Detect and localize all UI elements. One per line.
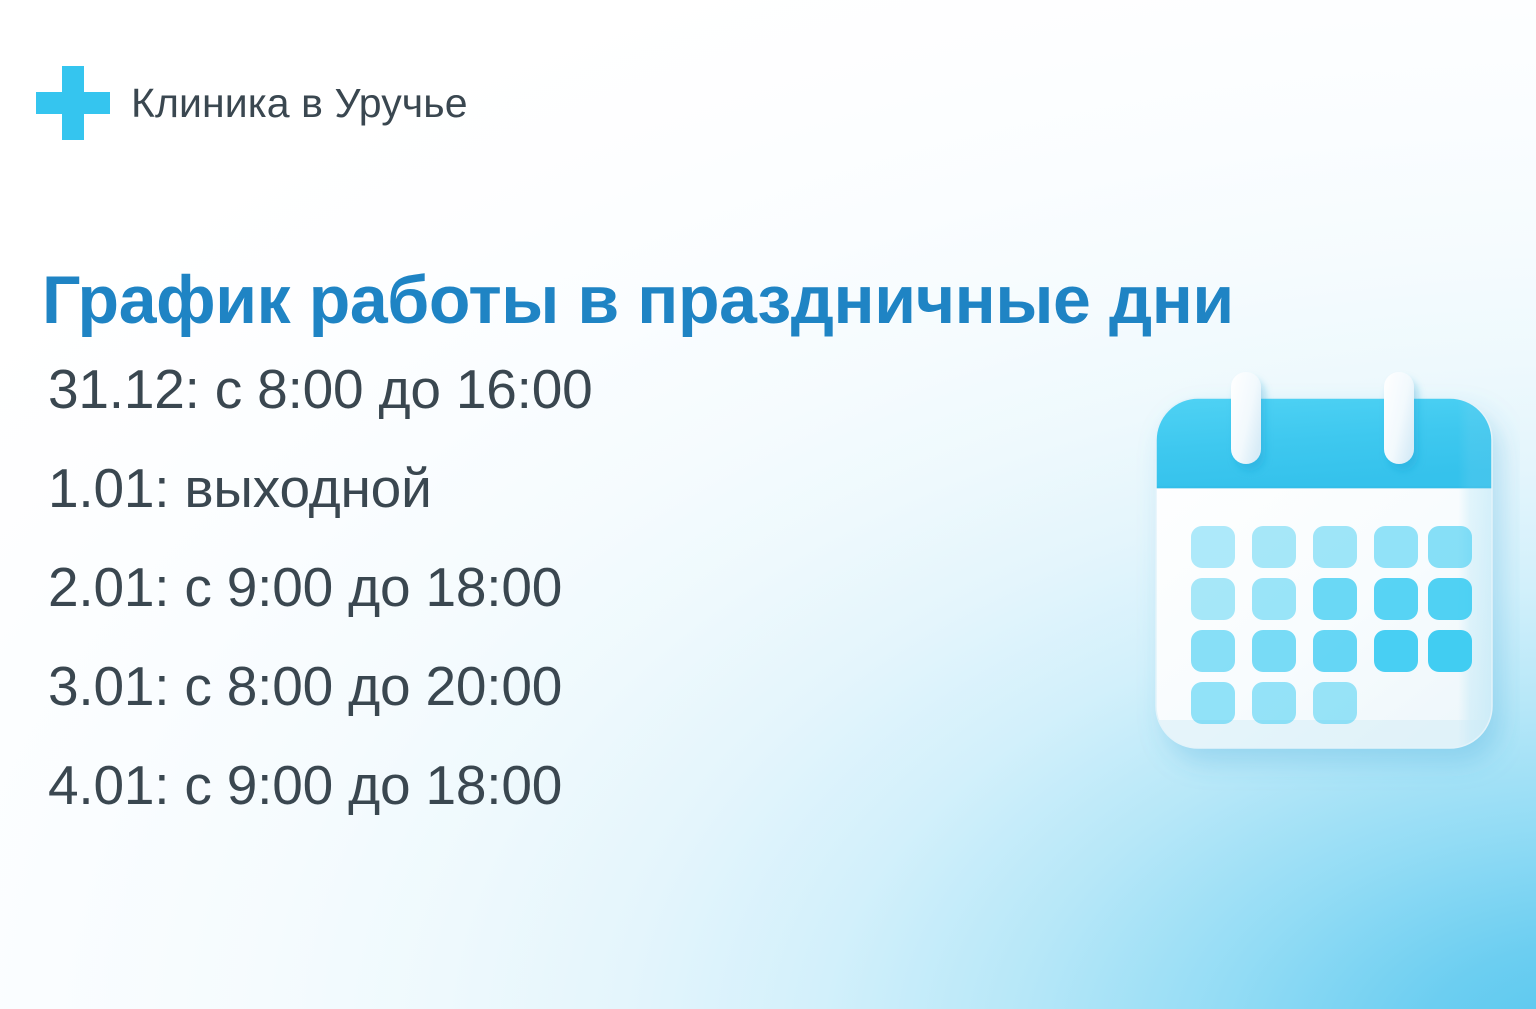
calendar-ring-right xyxy=(1384,372,1414,464)
calendar-illustration xyxy=(1128,362,1520,792)
medical-cross-icon xyxy=(36,66,110,140)
page-title: График работы в праздничные дни xyxy=(42,264,1234,336)
schedule-row: 4.01: с 9:00 до 18:00 xyxy=(48,758,808,813)
brand-name: Клиника в Уручье xyxy=(131,83,468,124)
schedule-list: 31.12: с 8:00 до 16:00 1.01: выходной 2.… xyxy=(48,362,808,813)
poster-canvas: Клиника в Уручье График работы в праздни… xyxy=(0,0,1536,1009)
calendar-card xyxy=(1156,398,1492,748)
brand-logo: Клиника в Уручье xyxy=(36,66,468,140)
calendar-icon xyxy=(1128,362,1520,792)
calendar-header-band xyxy=(1156,398,1492,488)
schedule-row: 3.01: с 8:00 до 20:00 xyxy=(48,659,808,714)
schedule-row: 31.12: с 8:00 до 16:00 xyxy=(48,362,808,417)
schedule-row: 2.01: с 9:00 до 18:00 xyxy=(48,560,808,615)
calendar-ring-left xyxy=(1231,372,1261,464)
schedule-row: 1.01: выходной xyxy=(48,461,808,516)
